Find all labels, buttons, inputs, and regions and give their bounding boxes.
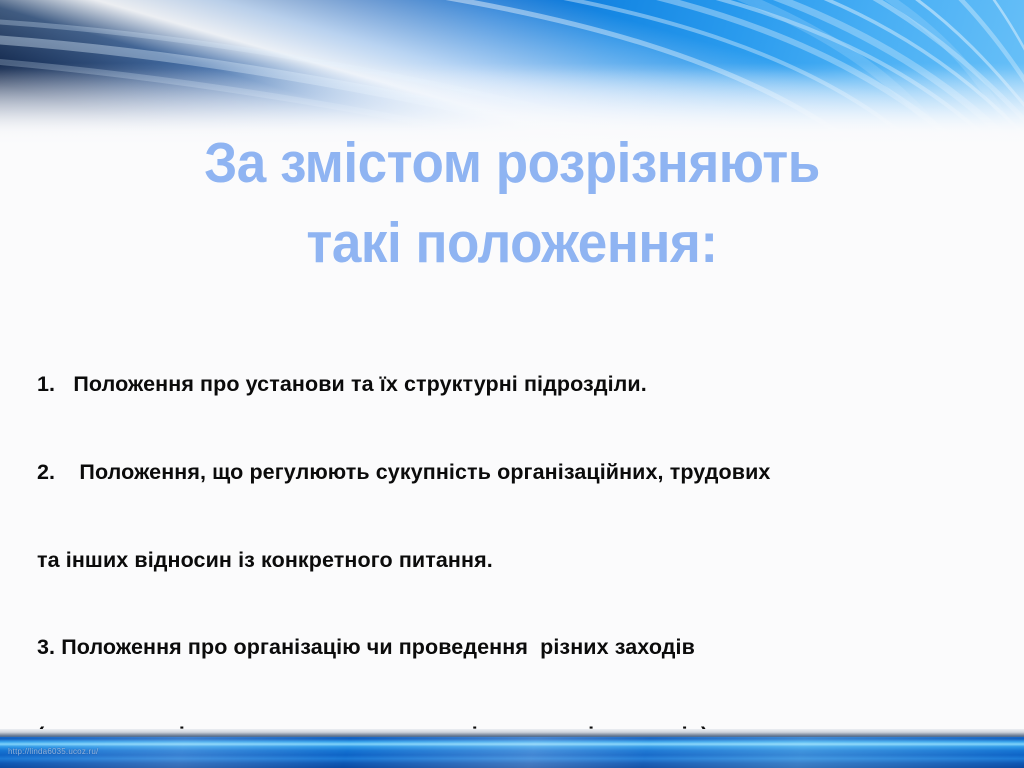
slide: За змістом розрізняють такі положення: 1… — [0, 0, 1024, 768]
footer-light-streaks — [0, 737, 1024, 768]
slide-title: За змістом розрізняють такі положення: — [36, 123, 988, 283]
body-line: 2. Положення, що регулюють сукупність ор… — [37, 458, 997, 487]
body-line: та інших відносин із конкретного питання… — [37, 546, 997, 575]
body-line: 3. Положення про організацію чи проведен… — [37, 633, 997, 662]
source-watermark: http://linda6035.ucoz.ru/ — [8, 747, 98, 757]
slide-body-text: 1. Положення про установи та їх структур… — [37, 312, 997, 768]
footer-bar-decoration: http://linda6035.ucoz.ru/ — [0, 729, 1024, 768]
body-line: 1. Положення про установи та їх структур… — [37, 370, 997, 399]
